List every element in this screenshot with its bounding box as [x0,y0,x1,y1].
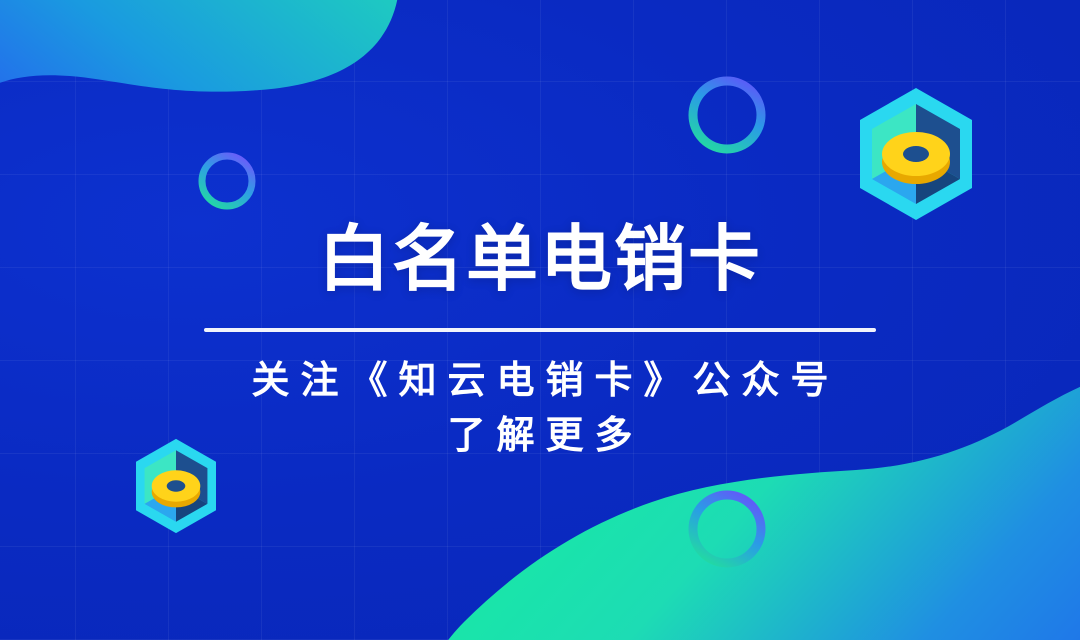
hexagon-token-large-icon [846,84,986,224]
banner-content: 白名单电销卡 关注《知云电销卡》公众号 了解更多 [0,224,1080,464]
banner-subtitle: 关注《知云电销卡》公众号 了解更多 [0,354,1080,464]
title-divider [204,328,876,332]
promo-banner: 白名单电销卡 关注《知云电销卡》公众号 了解更多 [0,0,1080,640]
ring-small-left-icon [196,150,258,212]
banner-title: 白名单电销卡 [0,224,1080,296]
ring-large-top-icon [684,72,770,158]
ring-large-bottom-icon [684,486,770,572]
banner-subtitle-line-2: 了解更多 [0,409,1080,464]
banner-subtitle-line-1: 关注《知云电销卡》公众号 [0,354,1080,409]
